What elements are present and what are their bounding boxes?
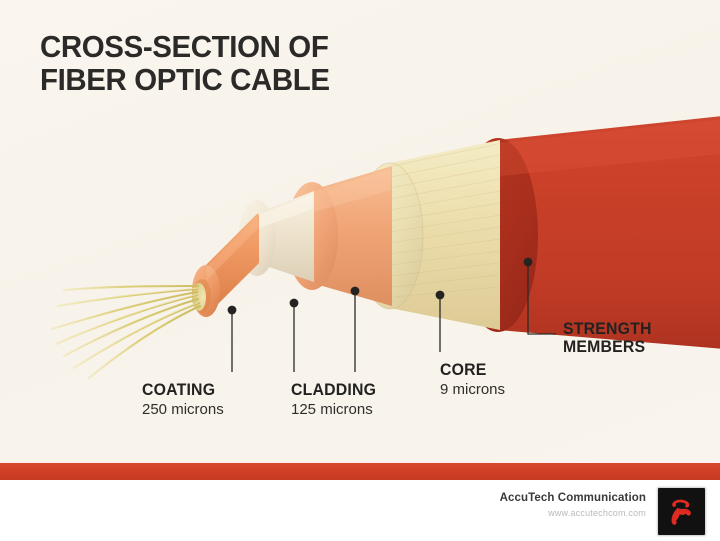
fiber-strands: [52, 283, 206, 378]
accent-divider-bar: [0, 463, 720, 480]
callout-label-strength-members: STRENGTH MEMBERS: [563, 320, 655, 357]
dot-cladding: [290, 299, 299, 308]
dot-strength-members: [524, 258, 533, 267]
dot-buffer: [351, 287, 360, 296]
dot-core: [436, 291, 445, 300]
callout-value-coating: 250 microns: [142, 401, 224, 419]
brand-block: AccuTech Communication www.accutechcom.c…: [500, 492, 646, 518]
callout-label-cladding: CLADDING 125 microns: [291, 381, 380, 419]
callout-value-cladding: 125 microns: [291, 401, 380, 419]
callout-title-cladding: CLADDING: [291, 381, 376, 399]
callout-title-strength-line2: MEMBERS: [563, 338, 652, 356]
company-logo: [657, 487, 706, 536]
dot-coating: [228, 306, 237, 315]
callout-value-core: 9 microns: [440, 381, 505, 399]
phone-handset-icon: [667, 497, 697, 527]
callout-label-core: CORE 9 microns: [440, 361, 505, 399]
company-name: AccuTech Communication: [500, 492, 646, 504]
callout-title-core: CORE: [440, 361, 502, 379]
callout-title-strength-line1: STRENGTH: [563, 320, 652, 338]
callout-title-coating: COATING: [142, 381, 220, 399]
callout-label-coating: COATING 250 microns: [142, 381, 224, 419]
company-website[interactable]: www.accutechcom.com: [500, 508, 646, 518]
infographic-poster: CROSS-SECTION OF FIBER OPTIC CABLE: [0, 0, 720, 541]
